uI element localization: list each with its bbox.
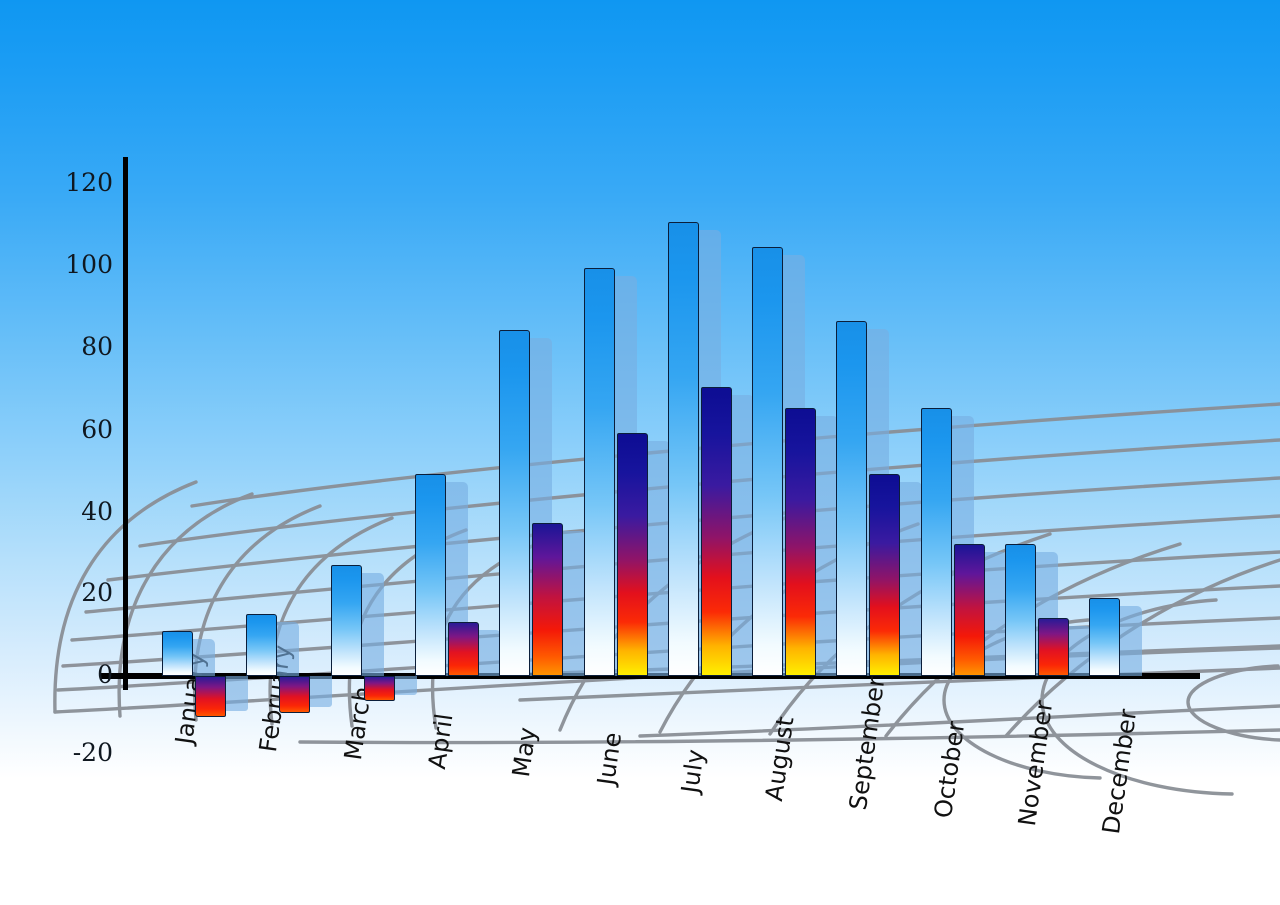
chart-canvas: 120 100 80 60 40 20 0 -20 JanuaryFebruar… xyxy=(0,0,1280,905)
x-axis-label-december: December xyxy=(1097,707,1142,836)
x-axis-label-september: September xyxy=(844,674,890,811)
bar-series1-january xyxy=(162,631,193,676)
bar-series1-september xyxy=(836,321,867,676)
bar-series1-october xyxy=(921,408,952,676)
bar-series2-january xyxy=(195,676,226,717)
bar-series1-may xyxy=(499,330,530,677)
bar-series1-june xyxy=(584,268,615,676)
bar-series2-august xyxy=(785,408,816,676)
bar-series2-june xyxy=(617,433,648,676)
bar-series2-may xyxy=(532,523,563,676)
x-axis-label-july: July xyxy=(676,748,710,795)
bar-series1-april xyxy=(415,474,446,676)
bar-series2-october xyxy=(954,544,985,676)
bar-series2-april xyxy=(448,622,479,676)
bar-series1-december xyxy=(1089,598,1120,676)
x-axis-label-august: August xyxy=(760,715,800,803)
x-axis-label-june: June xyxy=(592,730,627,786)
x-axis-label-april: April xyxy=(423,711,459,770)
bar-series1-november xyxy=(1005,544,1036,676)
bar-series1-august xyxy=(752,247,783,676)
bar-series2-september xyxy=(869,474,900,676)
bar-series2-march xyxy=(364,676,395,701)
bar-series1-march xyxy=(331,565,362,676)
bar-series2-february xyxy=(279,676,310,713)
bar-series2-july xyxy=(701,387,732,676)
x-axis-label-may: May xyxy=(507,725,542,779)
bar-series1-february xyxy=(246,614,277,676)
x-axis-label-october: October xyxy=(929,719,970,819)
bar-series1-july xyxy=(668,222,699,676)
x-axis-label-november: November xyxy=(1013,699,1058,828)
bar-series2-november xyxy=(1038,618,1069,676)
